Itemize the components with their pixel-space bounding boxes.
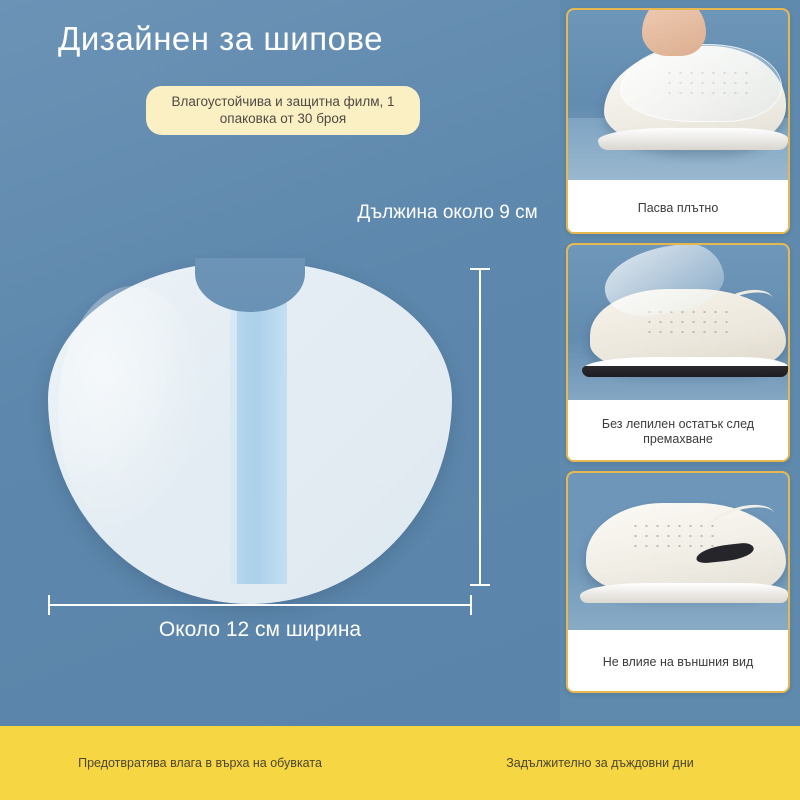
page-title: Дизайнен за шипове <box>58 20 383 58</box>
feature-badge: Влагоустойчива и защитна филм, 1 опаковк… <box>146 86 420 135</box>
insole-adhesive-stripe <box>230 296 287 584</box>
clean-sneaker-photo <box>568 473 788 630</box>
shoe-film-peeling-photo <box>568 245 788 400</box>
shoe-sole <box>580 583 788 603</box>
feature-card: Без лепилен остатък след премахване <box>566 243 790 462</box>
finger <box>642 10 706 56</box>
footer-bar: Предотвратява влага в върха на обувката … <box>0 726 800 800</box>
width-label: Около 12 см ширина <box>48 618 472 642</box>
feature-card: Не влияе на външния вид <box>566 471 790 693</box>
footer-left-text: Предотвратява влага в върха на обувката <box>0 756 400 770</box>
card-caption: Пасва плътно <box>568 184 788 232</box>
card-caption: Без лепилен остатък след премахване <box>568 404 788 460</box>
feature-cards: Пасва плътно Без лепилен остатък след пр… <box>566 8 792 720</box>
footer-right-text: Задължително за дъждовни дни <box>400 756 800 770</box>
product-infographic: Дизайнен за шипове Влагоустойчива и защи… <box>0 0 800 800</box>
vertical-measure-line <box>479 268 481 586</box>
shoe-perforations <box>630 521 716 555</box>
insole-illustration <box>48 262 452 604</box>
horizontal-measure-line <box>48 604 472 606</box>
length-label: Дължина около 9 см <box>340 200 555 226</box>
shoe-sole <box>582 357 788 377</box>
shoe-toe-with-film-photo <box>568 10 788 180</box>
shoe-sole <box>598 128 788 150</box>
feature-card: Пасва плътно <box>566 8 790 234</box>
card-caption: Не влияе на външния вид <box>568 634 788 691</box>
main-panel: Дизайнен за шипове Влагоустойчива и защи… <box>0 0 560 726</box>
